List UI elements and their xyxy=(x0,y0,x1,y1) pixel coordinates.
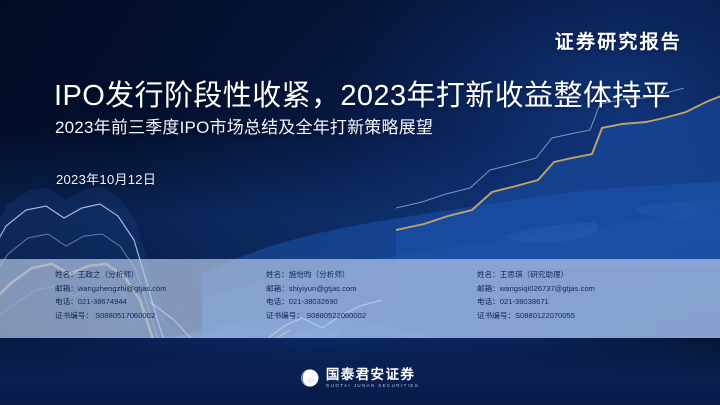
page-subtitle: 2023年前三季度IPO市场总结及全年打新策略展望 xyxy=(55,113,433,138)
author-name-line: 姓名：王思琪（研究助理） xyxy=(477,268,595,282)
author-cert-line: 证书编号： S0880517060002 xyxy=(55,309,167,323)
author-column-1: 姓名：王政之（分析师） 邮箱：wangzhengzhi@gtjas.com 电话… xyxy=(55,268,167,322)
report-type-kicker: 证券研究报告 xyxy=(555,27,682,54)
author-email-line: 邮箱：wangsiqi026737@gtjas.com xyxy=(477,282,595,296)
company-logo: 国泰君安证券 GUOTAI JUNAN SECURITIES xyxy=(301,368,419,388)
author-email-line: 邮箱：shiyiyun@gtjas.com xyxy=(266,282,366,296)
author-column-3: 姓名：王思琪（研究助理） 邮箱：wangsiqi026737@gtjas.com… xyxy=(477,268,595,322)
page-title: IPO发行阶段性收紧，2023年打新收益整体持平 xyxy=(54,72,671,114)
author-phone-line: 电话：021-38038671 xyxy=(477,295,595,309)
report-cover-slide: 证券研究报告 IPO发行阶段性收紧，2023年打新收益整体持平 2023年前三季… xyxy=(0,0,720,405)
logo-chinese-name: 国泰君安证券 xyxy=(326,368,419,382)
author-name-line: 姓名：施怡昀（分析师） xyxy=(266,268,366,282)
publish-date: 2023年10月12日 xyxy=(56,169,156,188)
author-name-line: 姓名：王政之（分析师） xyxy=(55,268,167,282)
author-cert-line: 证书编号： S0880522060002 xyxy=(266,309,366,323)
author-phone-line: 电话：021-38032690 xyxy=(266,295,366,309)
logo-text-block: 国泰君安证券 GUOTAI JUNAN SECURITIES xyxy=(326,368,419,388)
author-email-line: 邮箱：wangzhengzhi@gtjas.com xyxy=(55,282,167,296)
author-column-2: 姓名：施怡昀（分析师） 邮箱：shiyiyun@gtjas.com 电话：021… xyxy=(266,268,366,322)
author-phone-line: 电话：021-38674944 xyxy=(55,295,167,309)
guotai-junan-circle-logo-icon xyxy=(301,369,319,387)
logo-english-name: GUOTAI JUNAN SECURITIES xyxy=(326,384,419,388)
author-cert-line: 证书编号：S0880122070055 xyxy=(477,309,595,323)
